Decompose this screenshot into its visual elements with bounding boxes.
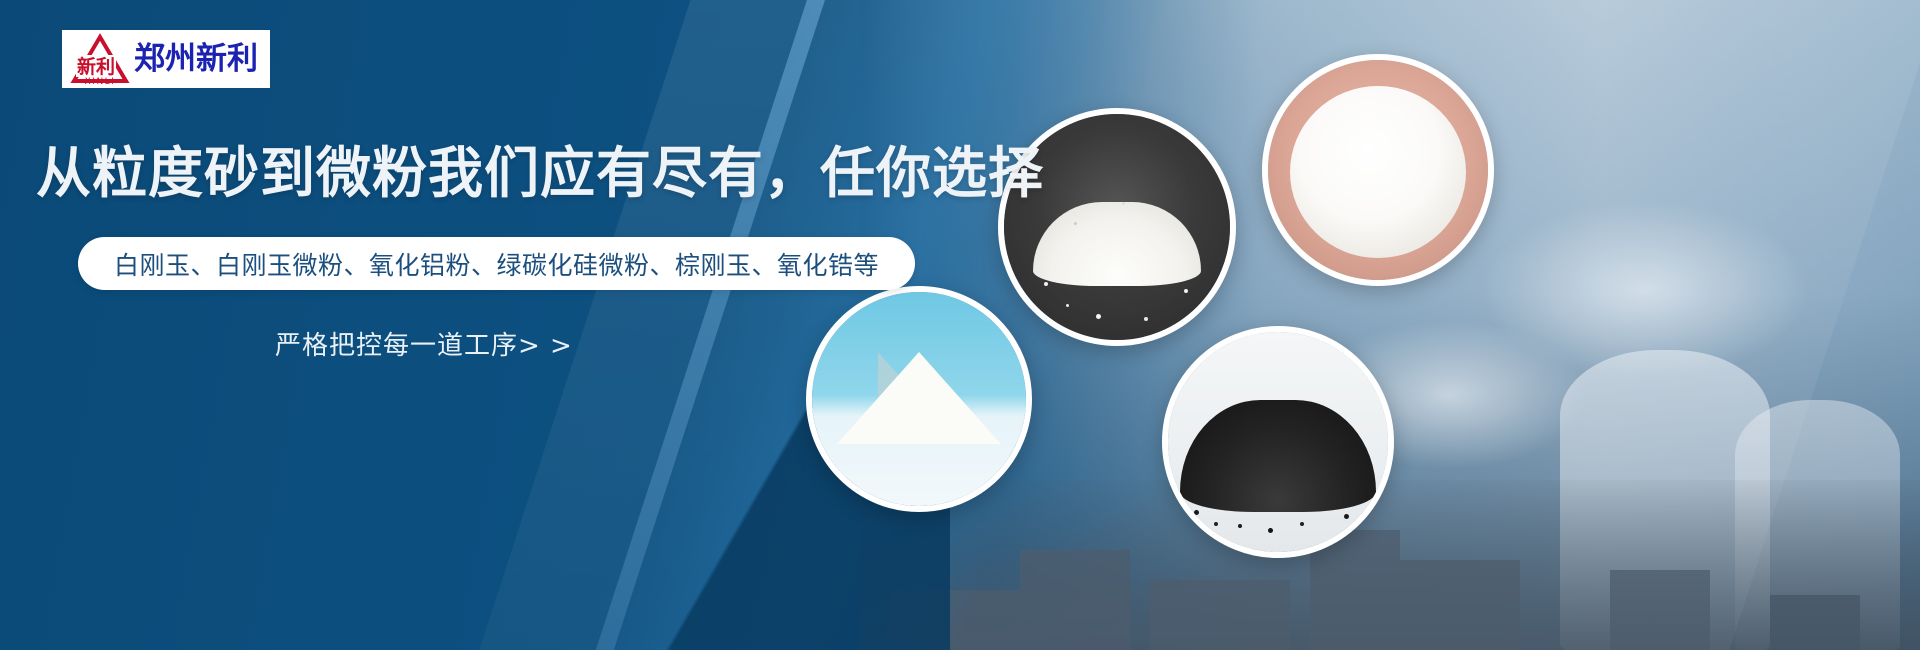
product-photo <box>812 292 1026 506</box>
product-image-black-grit[interactable] <box>1162 326 1394 558</box>
product-photo <box>1268 60 1488 280</box>
svg-text:XINLI: XINLI <box>85 77 116 85</box>
xinli-triangle-icon: 新利 XINLI <box>70 33 130 85</box>
quality-tagline[interactable]: 严格把控每一道工序> > <box>275 325 573 362</box>
promo-banner: 新利 XINLI 郑州新利 从粒度砂到微粉我们应有尽有，任你选择 白刚玉、白刚玉… <box>0 0 1920 650</box>
product-list-pill[interactable]: 白刚玉、白刚玉微粉、氧化铝粉、绿碳化硅微粉、棕刚玉、氧化锆等 <box>78 237 915 290</box>
product-list-text: 白刚玉、白刚玉微粉、氧化铝粉、绿碳化硅微粉、棕刚玉、氧化锆等 <box>114 246 879 282</box>
grit-mound <box>1180 400 1376 512</box>
product-image-powder-cone[interactable] <box>806 286 1032 512</box>
logo-company-name: 郑州新利 <box>134 44 258 75</box>
product-image-white-powder-bowl[interactable] <box>1262 54 1494 286</box>
company-logo[interactable]: 新利 XINLI 郑州新利 <box>62 30 270 88</box>
powder-mound <box>1290 86 1466 258</box>
grain-mound <box>1033 202 1201 286</box>
powder-cone <box>837 352 1001 444</box>
building-shape <box>1770 595 1860 650</box>
product-photo <box>1168 332 1388 552</box>
banner-headline: 从粒度砂到微粉我们应有尽有，任你选择 <box>36 144 1044 203</box>
svg-text:新利: 新利 <box>77 55 115 78</box>
